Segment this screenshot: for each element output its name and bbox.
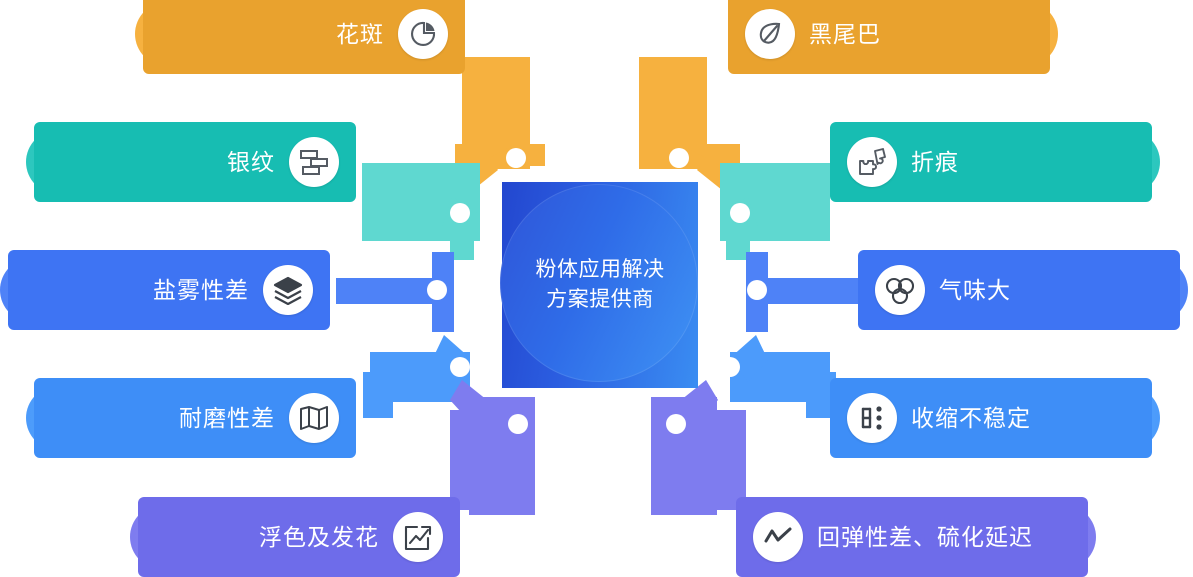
conn-lower-right	[720, 335, 836, 418]
center-label-line2: 方案提供商	[546, 285, 654, 315]
node-label: 回弹性差、硫化延迟	[817, 526, 1033, 549]
pie-chart-icon	[398, 9, 448, 59]
puzzle-icon	[847, 137, 897, 187]
node-tree-icon	[847, 393, 897, 443]
center-label: 粉体应用解决 方案提供商	[502, 182, 698, 388]
leaf-icon	[745, 9, 795, 59]
node-label: 花斑	[336, 23, 384, 46]
node-hua-ban[interactable]: 花斑	[135, 2, 457, 66]
conn-upper-right	[720, 163, 830, 260]
open-book-icon	[289, 393, 339, 443]
line-chart-icon	[753, 512, 803, 562]
node-qi-wei-da[interactable]: 气味大	[866, 258, 1188, 322]
node-hui-tan-xing-cha[interactable]: 回弹性差、硫化延迟	[744, 505, 1096, 569]
trend-box-icon	[393, 512, 443, 562]
recycle-icon	[875, 265, 925, 315]
node-label: 黑尾巴	[809, 23, 881, 46]
node-hei-wei-ba[interactable]: 黑尾巴	[736, 2, 1058, 66]
center-label-line1: 粉体应用解决	[536, 255, 665, 285]
conn-mid-left	[336, 252, 454, 332]
node-yin-wen[interactable]: 银纹	[26, 130, 348, 194]
infographic-canvas: 粉体应用解决 方案提供商 花斑 银纹 盐雾性差	[0, 0, 1193, 577]
node-yan-wu-xing-cha[interactable]: 盐雾性差	[0, 258, 322, 322]
conn-mid-right	[746, 252, 864, 332]
node-label: 折痕	[911, 151, 959, 174]
node-label: 银纹	[227, 151, 275, 174]
node-shou-suo-bu-wen-ding[interactable]: 收缩不稳定	[838, 386, 1160, 450]
node-label: 气味大	[939, 279, 1011, 302]
conn-upper-left	[362, 163, 480, 260]
conn-bottom-left	[450, 380, 535, 515]
node-fu-se-ji-fa-hua[interactable]: 浮色及发花	[130, 505, 452, 569]
conn-lower-left	[363, 335, 470, 418]
node-nai-mo-xing-cha[interactable]: 耐磨性差	[26, 386, 348, 450]
node-label: 收缩不稳定	[911, 407, 1031, 430]
node-label: 盐雾性差	[153, 279, 249, 302]
brick-wall-icon	[289, 137, 339, 187]
node-zhe-hen[interactable]: 折痕	[838, 130, 1160, 194]
center-node: 粉体应用解决 方案提供商	[502, 182, 698, 388]
node-label: 耐磨性差	[179, 407, 275, 430]
layers-icon	[263, 265, 313, 315]
node-label: 浮色及发花	[259, 526, 379, 549]
